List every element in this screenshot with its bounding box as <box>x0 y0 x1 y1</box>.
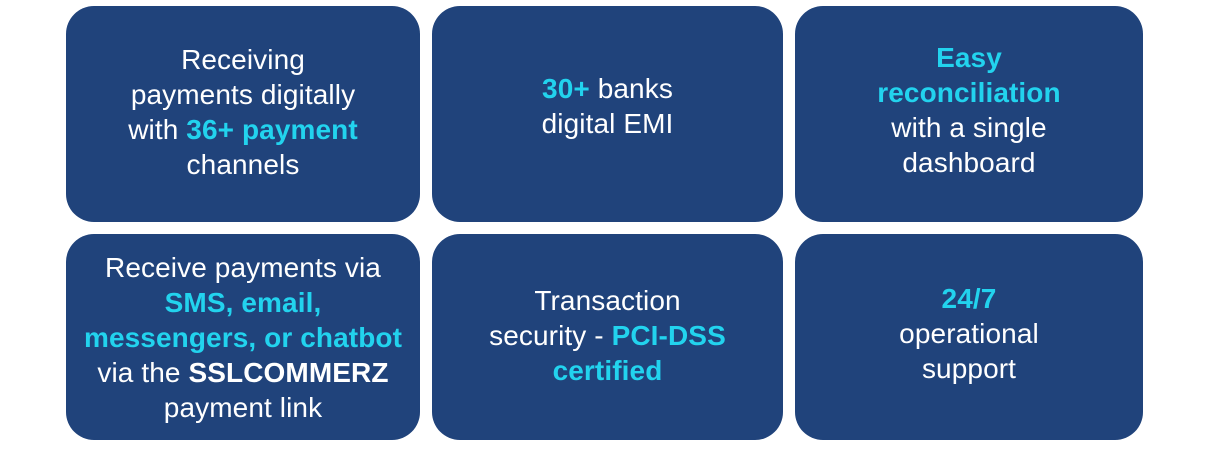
feature-card-operational-support[interactable]: 24/7 operational support <box>795 234 1143 440</box>
feature-card-easy-reconciliation[interactable]: Easy reconciliation with a single dashbo… <box>795 6 1143 222</box>
feature-card-banks-digital-emi[interactable]: 30+ banks digital EMI <box>432 6 783 222</box>
highlighted-phrase: SMS, email, messengers, or chatbot <box>84 287 402 353</box>
feature-card-text: Easy reconciliation with a single dashbo… <box>877 40 1060 180</box>
highlighted-phrase: 36+ payment <box>186 114 358 145</box>
highlighted-phrase: 30+ <box>542 73 590 104</box>
highlighted-phrase: 24/7 <box>942 283 997 314</box>
feature-card-grid: Receiving payments digitally with 36+ pa… <box>66 6 1143 440</box>
highlighted-phrase: PCI-DSS certified <box>553 320 726 386</box>
highlighted-phrase: Easy reconciliation <box>877 42 1060 108</box>
feature-card-payment-link-channels[interactable]: Receive payments via SMS, email, messeng… <box>66 234 420 440</box>
feature-card-text: Transaction security - PCI-DSS certified <box>489 283 726 388</box>
feature-card-text: 24/7 operational support <box>899 281 1039 386</box>
feature-card-payment-channels[interactable]: Receiving payments digitally with 36+ pa… <box>66 6 420 222</box>
feature-card-text: 30+ banks digital EMI <box>542 71 674 141</box>
feature-card-text: Receive payments via SMS, email, messeng… <box>84 250 402 425</box>
feature-card-text: Receiving payments digitally with 36+ pa… <box>128 42 358 182</box>
feature-card-transaction-security[interactable]: Transaction security - PCI-DSS certified <box>432 234 783 440</box>
bold-phrase: SSLCOMMERZ <box>188 357 388 388</box>
